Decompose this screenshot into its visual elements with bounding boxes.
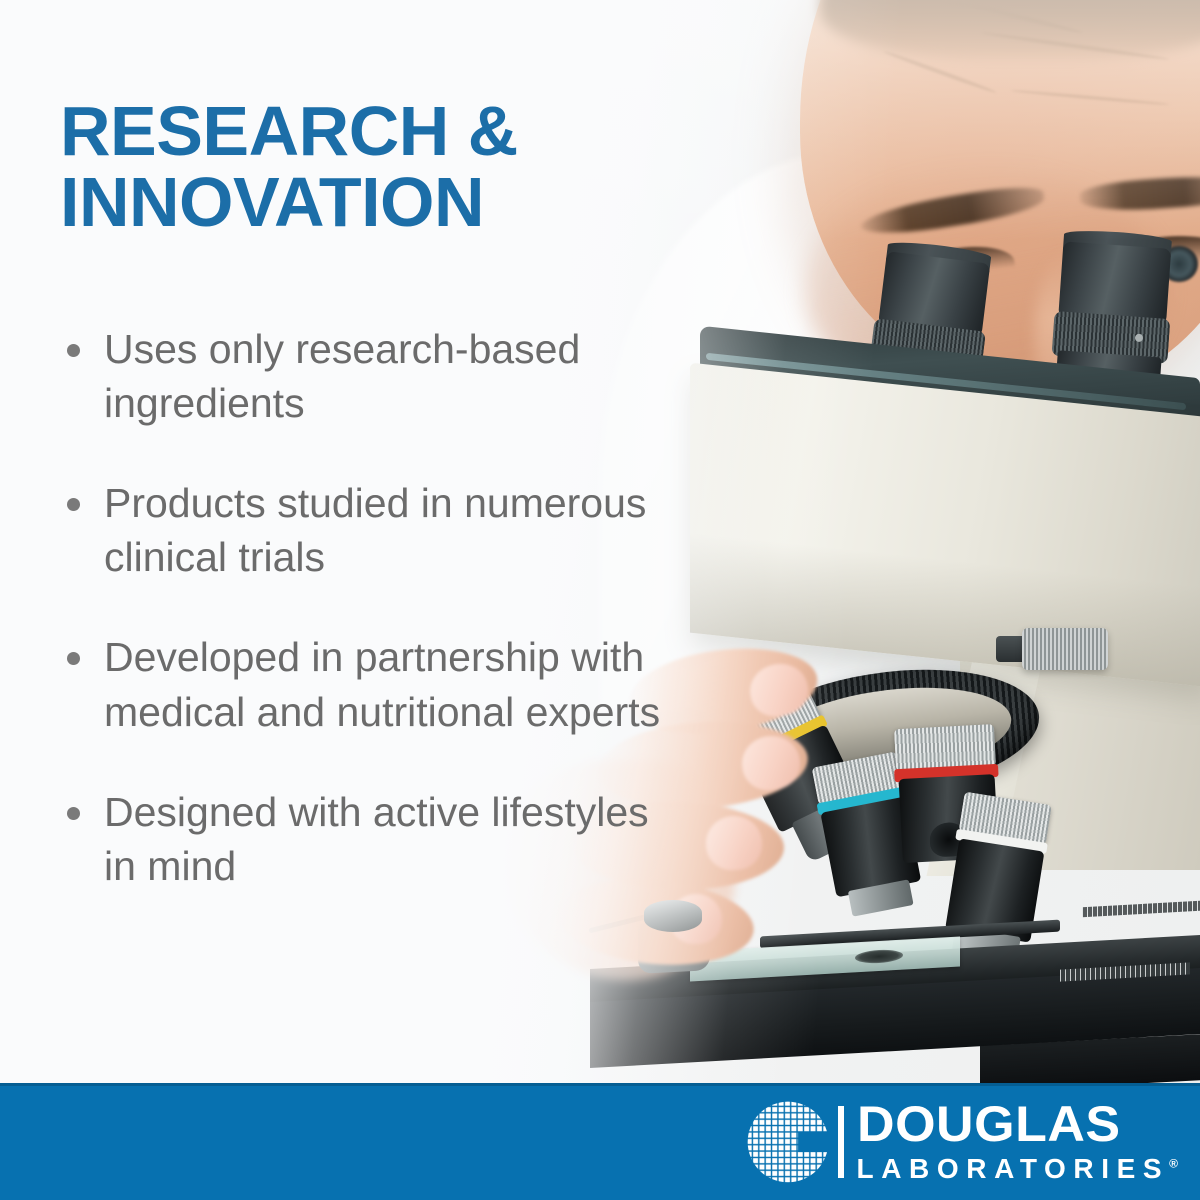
brand-footer-bar: DOUGLAS LABORATORIES®: [0, 1083, 1200, 1200]
list-item-label: Products studied in numerous clinical tr…: [104, 480, 646, 580]
text-column: RESEARCH &INNOVATION Uses only research-…: [0, 0, 700, 1085]
focus-knob: [1022, 628, 1108, 670]
logo-brand-primary: DOUGLAS: [857, 1101, 1191, 1149]
list-item-label: Developed in partnership with medical an…: [104, 634, 660, 734]
bullet-dot-icon: [67, 807, 80, 820]
list-item-label: Designed with active lifestyles in mind: [104, 789, 649, 889]
bullet-dot-icon: [67, 652, 80, 665]
bullet-dot-icon: [67, 344, 80, 357]
page-title-line-2: INNOVATION: [60, 163, 484, 241]
feature-bullet-list: Uses only research-based ingredients Pro…: [58, 322, 678, 893]
douglas-laboratories-logo[interactable]: DOUGLAS LABORATORIES®: [746, 1097, 1178, 1187]
page-title-line-1: RESEARCH &: [60, 92, 518, 170]
list-item: Products studied in numerous clinical tr…: [58, 476, 678, 584]
logo-brand-secondary: LABORATORIES®: [857, 1154, 1178, 1183]
list-item: Uses only research-based ingredients: [58, 322, 678, 430]
research-innovation-poster: RESEARCH &INNOVATION Uses only research-…: [0, 0, 1200, 1200]
list-item: Developed in partnership with medical an…: [58, 630, 678, 738]
list-item: Designed with active lifestyles in mind: [58, 785, 678, 893]
douglas-grid-circle-icon: [746, 1100, 830, 1184]
logo-divider: [838, 1106, 844, 1178]
list-item-label: Uses only research-based ingredients: [104, 326, 580, 426]
logo-wordmark: DOUGLAS LABORATORIES®: [857, 1101, 1178, 1183]
footer-top-edge: [0, 1083, 1200, 1086]
logo-brand-secondary-text: LABORATORIES: [857, 1153, 1170, 1184]
registered-trademark-icon: ®: [1169, 1156, 1178, 1170]
page-title: RESEARCH &INNOVATION: [60, 96, 660, 239]
bullet-dot-icon: [67, 498, 80, 511]
